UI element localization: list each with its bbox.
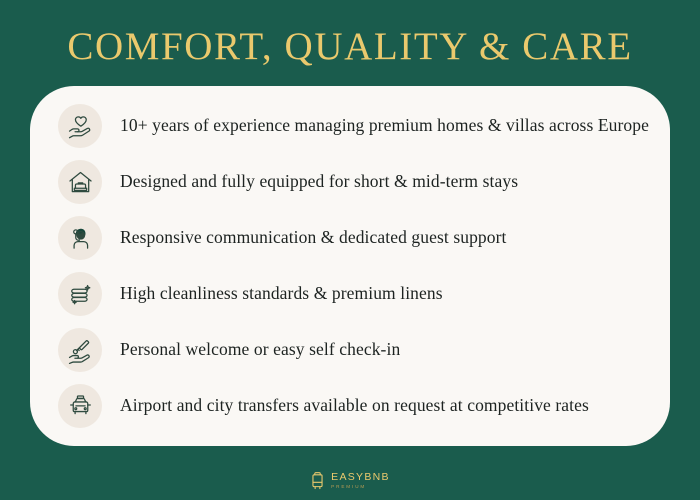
- list-item: Personal welcome or easy self check-in: [58, 326, 658, 374]
- list-item: High cleanliness standards & premium lin…: [58, 270, 658, 318]
- list-item: Designed and fully equipped for short & …: [58, 158, 658, 206]
- folded-linens-sparkle-icon: [58, 272, 102, 316]
- list-item-label: Personal welcome or easy self check-in: [120, 339, 400, 361]
- brand-tagline: PREMIUM: [331, 485, 390, 490]
- list-item-label: Designed and fully equipped for short & …: [120, 171, 518, 193]
- list-item-label: Responsive communication & dedicated gue…: [120, 227, 507, 249]
- poster-canvas: COMFORT, QUALITY & CARE 10+ years of exp…: [0, 0, 700, 500]
- house-bed-icon: [58, 160, 102, 204]
- list-item-label: Airport and city transfers available on …: [120, 395, 589, 417]
- features-card: 10+ years of experience managing premium…: [30, 86, 670, 446]
- hand-heart-icon: [58, 104, 102, 148]
- easybnb-luggage-mark-icon: [310, 471, 325, 491]
- brand-name: EASYBNB: [331, 472, 390, 483]
- footer-logo: EASYBNB PREMIUM: [0, 471, 700, 491]
- list-item-label: 10+ years of experience managing premium…: [120, 115, 649, 137]
- list-item-label: High cleanliness standards & premium lin…: [120, 283, 443, 305]
- list-item: Airport and city transfers available on …: [58, 382, 658, 430]
- list-item: Responsive communication & dedicated gue…: [58, 214, 658, 262]
- list-item: 10+ years of experience managing premium…: [58, 102, 658, 150]
- features-list: 10+ years of experience managing premium…: [58, 98, 658, 434]
- taxi-car-icon: [58, 384, 102, 428]
- person-support-icon: [58, 216, 102, 260]
- footer-brand-text: EASYBNB PREMIUM: [331, 472, 390, 489]
- page-title: COMFORT, QUALITY & CARE: [0, 26, 700, 69]
- hand-keys-icon: [58, 328, 102, 372]
